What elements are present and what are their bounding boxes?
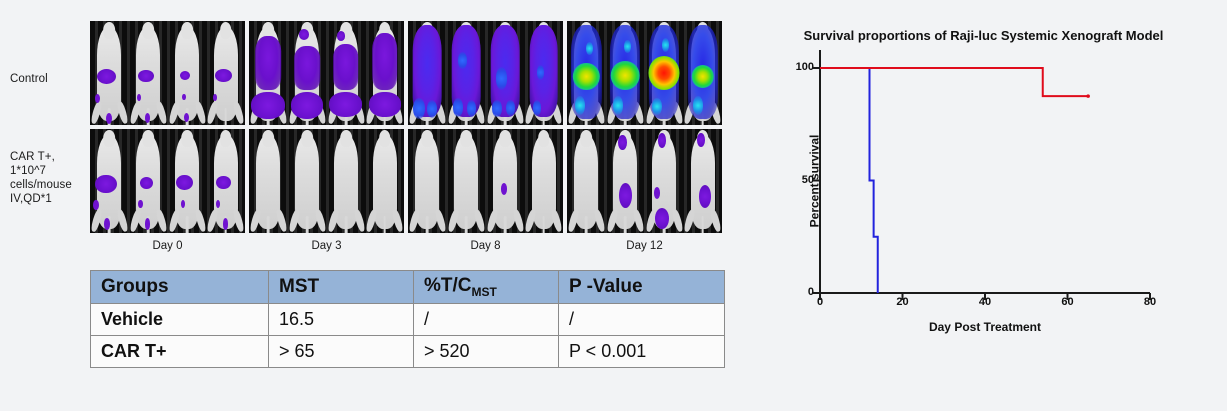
mouse-group <box>567 129 722 233</box>
mouse-group <box>408 129 563 233</box>
x-axis-label: Day Post Treatment <box>820 320 1150 334</box>
mouse <box>327 129 366 233</box>
mouse <box>206 21 245 125</box>
day-label-2: Day 8 <box>408 240 563 252</box>
mouse <box>168 21 207 125</box>
mouse <box>327 21 366 125</box>
chart-plot-area: Percent survival Day Post Treatment 0 50… <box>820 68 1150 293</box>
day-label-3: Day 12 <box>567 240 722 252</box>
cell-mst-cart: > 65 <box>269 335 414 367</box>
y-axis-ticks <box>813 68 820 293</box>
mouse-group <box>90 21 245 125</box>
cell-pvalue-cart: P < 0.001 <box>559 335 725 367</box>
mouse <box>365 21 404 125</box>
mouse <box>683 129 722 233</box>
column-header-tc-mst: %T/CMST <box>414 271 559 304</box>
censor-marker <box>1086 94 1090 98</box>
mouse <box>524 21 563 125</box>
imaging-panel-control-day0 <box>90 21 245 125</box>
cell-tc-vehicle: / <box>414 303 559 335</box>
mouse <box>129 129 168 233</box>
mouse-group <box>567 21 722 125</box>
mouse <box>129 21 168 125</box>
column-header-subscript: MST <box>472 285 497 299</box>
day-label-0: Day 0 <box>90 240 245 252</box>
mouse <box>606 21 645 125</box>
mouse <box>567 21 606 125</box>
imaging-panel-control-day12 <box>567 21 722 125</box>
mouse <box>683 21 722 125</box>
row-label-car-t: CAR T+, 1*10^7 cells/mouse IV,QD*1 <box>10 150 72 206</box>
table-row: Vehicle 16.5 / / <box>91 303 725 335</box>
mouse <box>206 129 245 233</box>
mouse-group <box>408 21 563 125</box>
mouse <box>288 21 327 125</box>
imaging-panel-cart-day12 <box>567 129 722 233</box>
column-header-groups: Groups <box>91 271 269 304</box>
y-tick-label: 50 <box>780 174 814 186</box>
survival-curve-series-1 <box>820 68 1088 96</box>
mouse <box>524 129 563 233</box>
table-header-row: Groups MST %T/CMST P -Value <box>91 271 725 304</box>
x-axis-ticks <box>820 293 1150 300</box>
mouse <box>249 21 288 125</box>
imaging-panel-control-day8 <box>408 21 563 125</box>
mouse <box>447 21 486 125</box>
imaging-panel-control-day3 <box>249 21 404 125</box>
mouse <box>408 129 447 233</box>
mouse <box>567 129 606 233</box>
imaging-panel-cart-day0 <box>90 129 245 233</box>
mouse-group <box>249 129 404 233</box>
mouse <box>288 129 327 233</box>
cell-tc-cart: > 520 <box>414 335 559 367</box>
row-label-control: Control <box>10 72 48 86</box>
mouse <box>408 21 447 125</box>
mouse <box>447 129 486 233</box>
table-row: CAR T+ > 65 > 520 P < 0.001 <box>91 335 725 367</box>
mouse <box>90 129 129 233</box>
imaging-row-car-t <box>90 129 722 233</box>
cell-group-cart: CAR T+ <box>91 335 269 367</box>
cell-mst-vehicle: 16.5 <box>269 303 414 335</box>
mouse <box>486 21 525 125</box>
imaging-panel-cart-day3 <box>249 129 404 233</box>
mouse <box>606 129 645 233</box>
imaging-panel-cart-day8 <box>408 129 563 233</box>
cell-group-vehicle: Vehicle <box>91 303 269 335</box>
survival-curves <box>820 68 1090 293</box>
mouse <box>365 129 404 233</box>
y-tick-label: 100 <box>780 61 814 73</box>
chart-axes <box>813 50 1150 300</box>
y-tick-label: 0 <box>780 286 814 298</box>
mouse <box>90 21 129 125</box>
mouse-group <box>249 21 404 125</box>
column-header-mst: MST <box>269 271 414 304</box>
column-header-pvalue: P -Value <box>559 271 725 304</box>
mouse <box>645 129 684 233</box>
results-table: Groups MST %T/CMST P -Value Vehicle 16.5… <box>90 270 725 368</box>
mouse <box>168 129 207 233</box>
imaging-row-control <box>90 21 722 125</box>
chart-title: Survival proportions of Raji-luc Systemi… <box>740 28 1227 43</box>
day-label-1: Day 3 <box>249 240 404 252</box>
survival-curves-svg <box>820 68 1150 293</box>
cell-pvalue-vehicle: / <box>559 303 725 335</box>
survival-curve-series-0 <box>820 68 878 293</box>
mouse <box>486 129 525 233</box>
bioluminescence-imaging-block: Control CAR T+, 1*10^7 cells/mouse IV,QD… <box>0 0 740 411</box>
mouse <box>645 21 684 125</box>
survival-chart: Survival proportions of Raji-luc Systemi… <box>740 0 1227 411</box>
mouse <box>249 129 288 233</box>
mouse-group <box>90 129 245 233</box>
day-label-row: Day 0 Day 3 Day 8 Day 12 <box>90 240 726 252</box>
